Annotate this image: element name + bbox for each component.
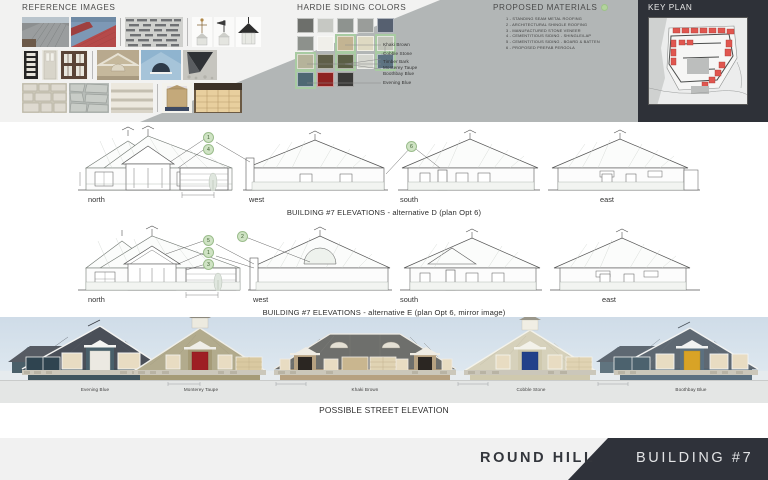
color-swatch: [297, 36, 314, 51]
ref-thumb-architectural-shingle: [125, 17, 183, 47]
color-swatch: [317, 72, 334, 87]
key-plan-section: KEY PLAN: [648, 3, 758, 105]
elevation-callout-1: 1: [203, 132, 214, 143]
ref-thumb-gable-arch-vent: [97, 50, 139, 80]
color-swatch: [357, 36, 374, 51]
elevation-callout-2: 2: [237, 231, 248, 242]
divider: [120, 18, 121, 46]
elevation-row-alternative-e: 5 1 3 2 north west south east BUILDING #…: [0, 222, 768, 314]
proposed-materials-header: PROPOSED MATERIALS: [493, 3, 633, 12]
ref-thumb-stone-veneer-ledge: [69, 83, 109, 113]
reference-images-section: REFERENCE IMAGES: [22, 3, 287, 116]
house-label-cobble-stone: Cobble Stone: [486, 387, 576, 392]
house-label-evening-blue: Evening Blue: [50, 387, 140, 392]
house-label-khaki-brown: Khaki Brown: [320, 387, 410, 392]
ref-thumb-stone-veneer-ashlar: [22, 83, 67, 113]
swatch-label-monterey-taupe: Monterey Taupe: [383, 65, 417, 70]
key-plan-site-map: [648, 17, 748, 105]
color-swatch-khaki-brown: [337, 36, 354, 51]
swatch-label-cobble-stone: Cobble Stone: [383, 51, 412, 56]
proposed-materials-list: 1 - STANDING SEAM METAL ROOFING 2 - ARCH…: [493, 16, 633, 51]
elevation-callout-3: 3: [203, 259, 214, 270]
divider: [187, 18, 188, 46]
house-khaki-brown: [274, 334, 456, 380]
house-boothbay-blue: [596, 322, 758, 380]
swatch-label-evening-blue: Evening Blue: [383, 80, 411, 85]
color-swatch: [337, 72, 354, 87]
ref-thumb-dark-door: [22, 50, 40, 80]
divider: [157, 84, 158, 112]
reference-row: [22, 50, 287, 80]
reference-images-grid: [22, 17, 287, 113]
elevation-caption-e: BUILDING #7 ELEVATIONS - alternative E (…: [0, 308, 768, 317]
elevation-drawing-d: [0, 124, 768, 214]
color-swatch: [337, 18, 354, 33]
key-plan-title: KEY PLAN: [648, 3, 758, 12]
color-swatch-timber-bark: [297, 54, 314, 69]
house-cobble-stone: [464, 317, 596, 380]
reference-images-title: REFERENCE IMAGES: [22, 3, 287, 12]
elevation-callout-4: 4: [203, 144, 214, 155]
elevation-callout-1: 1: [203, 247, 214, 258]
proposed-materials-section: PROPOSED MATERIALS 1 - STANDING SEAM MET…: [493, 3, 633, 51]
elevation-drawing-e: [0, 222, 768, 314]
ref-thumb-cupola: [236, 17, 261, 47]
direction-label-north: north: [88, 295, 105, 304]
reference-row: [22, 17, 287, 47]
ref-thumb-metal-corner-detail: [183, 50, 217, 80]
brand-title: ROUND HILL: [480, 450, 595, 466]
footer-band: ROUND HILL BUILDING #7: [0, 438, 768, 480]
color-swatch: [357, 18, 374, 33]
elevation-row-alternative-d: 1 4 6 north west south east BUILDING #7 …: [0, 124, 768, 214]
ref-thumb-wood-panel-door: [162, 83, 192, 113]
direction-label-south: south: [400, 195, 418, 204]
hardie-siding-colors-title: HARDIE SIDING COLORS: [297, 3, 487, 12]
reference-row: [22, 83, 287, 113]
ref-thumb-lap-siding: [111, 83, 153, 113]
divider: [92, 51, 93, 79]
sheet-title: BUILDING #7: [636, 450, 753, 466]
direction-label-west: west: [249, 195, 264, 204]
elevation-callout-6: 6: [406, 141, 417, 152]
direction-label-south: south: [400, 295, 418, 304]
callout-legend-dot-icon: [601, 4, 608, 11]
ref-thumb-glass-garage-door: [194, 83, 242, 113]
ref-thumb-red-metal-roof: [71, 17, 116, 47]
house-monterey-taupe: [134, 317, 266, 380]
color-swatch: [377, 18, 394, 33]
swatch-row: [297, 18, 487, 33]
house-label-monterey-taupe: Monterey Taupe: [156, 387, 246, 392]
header-band: REFERENCE IMAGES: [0, 0, 768, 122]
color-swatch-monterey-taupe: [337, 54, 354, 69]
swatch-label-khaki-brown: Khaki Brown: [383, 42, 410, 47]
ref-thumb-light-door: [42, 50, 58, 80]
swatch-label-boothbay-blue: Boothbay Blue: [383, 71, 414, 76]
material-item: 6 - PROPOSED PREFAB PERGOLA: [506, 45, 633, 51]
color-swatch: [297, 18, 314, 33]
ref-thumb-weathervane-cupola: [192, 17, 212, 47]
direction-label-east: east: [602, 295, 616, 304]
ref-thumb-blue-gable-arch: [141, 50, 181, 80]
ref-thumb-standing-seam-roof: [22, 17, 69, 47]
color-swatch-evening-blue: [297, 72, 314, 87]
swatch-label-timber-bark: Timber Bark: [383, 59, 409, 64]
ref-thumb-weathervane-dark: [214, 17, 234, 47]
street-elevation-band: Evening Blue Monterey Taupe Khaki Brown …: [0, 317, 768, 403]
ref-thumb-french-doors: [60, 50, 88, 80]
street-elevation-caption: POSSIBLE STREET ELEVATION: [0, 405, 768, 415]
elevation-caption-d: BUILDING #7 ELEVATIONS - alternative D (…: [0, 208, 768, 217]
direction-label-north: north: [88, 195, 105, 204]
color-swatch: [317, 36, 334, 51]
direction-label-east: east: [600, 195, 614, 204]
color-swatch: [317, 18, 334, 33]
house-label-boothbay-blue: Boothbay Blue: [646, 387, 736, 392]
color-swatch: [357, 54, 374, 69]
color-swatch: [317, 54, 334, 69]
proposed-materials-title: PROPOSED MATERIALS: [493, 3, 597, 12]
hardie-swatch-grid: Khaki Brown Cobble Stone Timber Bark Mon…: [297, 18, 487, 87]
elevation-callout-5: 5: [203, 235, 214, 246]
direction-label-west: west: [253, 295, 268, 304]
hardie-siding-colors-section: HARDIE SIDING COLORS: [297, 3, 487, 90]
